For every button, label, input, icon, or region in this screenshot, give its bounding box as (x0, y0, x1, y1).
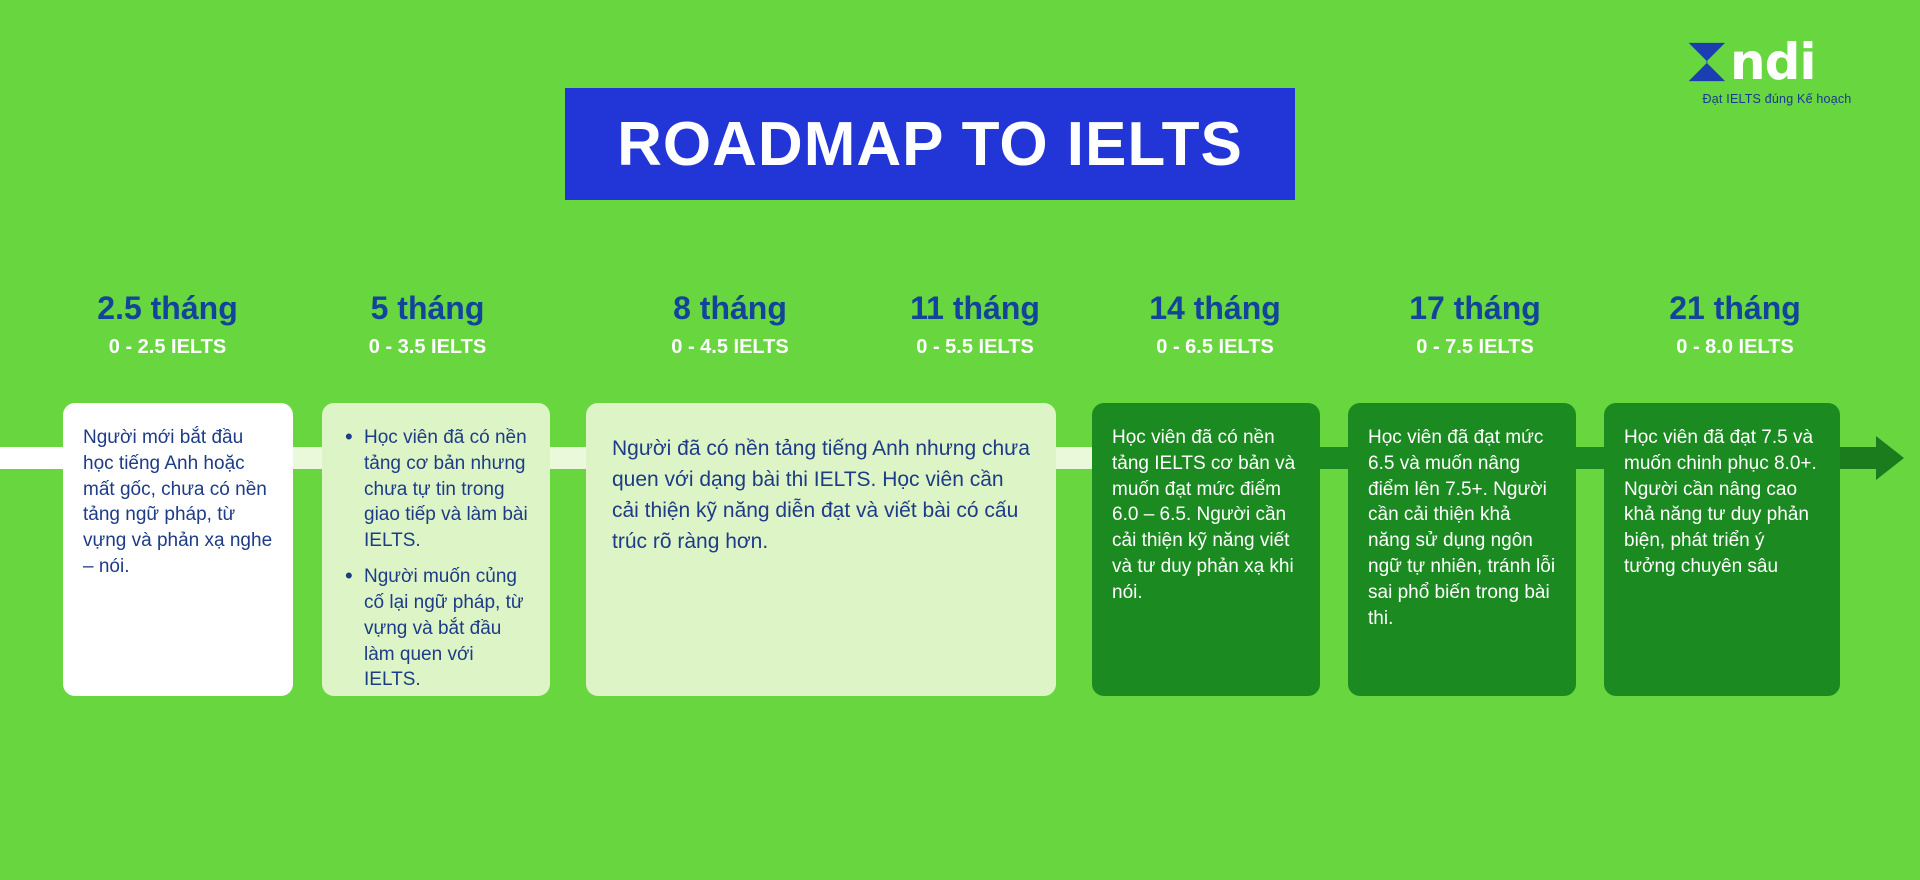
timeline-score-6: 0 - 7.5 IELTS (1360, 332, 1590, 362)
timeline-segment-1-2 (292, 447, 322, 469)
timeline-segment-2-3 (548, 447, 588, 469)
timeline-score-4: 0 - 5.5 IELTS (860, 332, 1090, 362)
logo-tagline: Đạt IELTS đúng Kế hoạch (1662, 92, 1892, 106)
logo-wordmark-row: ndi (1662, 34, 1892, 90)
timeline-months-1: 2.5 tháng (45, 288, 290, 328)
roadmap-card-6: Học viên đã đạt 7.5 và muốn chinh phục 8… (1604, 403, 1840, 696)
timeline-score-1: 0 - 2.5 IELTS (45, 332, 290, 362)
timeline-score-3: 0 - 4.5 IELTS (615, 332, 845, 362)
roadmap-card-2-list: Học viên đã có nền tảng cơ bản nhưng chư… (342, 425, 530, 693)
roadmap-card-2: Học viên đã có nền tảng cơ bản nhưng chư… (322, 403, 550, 696)
roadmap-card-6-text: Học viên đã đạt 7.5 và muốn chinh phục 8… (1624, 425, 1820, 580)
timeline-months-6: 17 tháng (1360, 288, 1590, 328)
logo-word: ndi (1730, 36, 1816, 88)
endi-logo: ndi Đạt IELTS đúng Kế hoạch (1662, 34, 1892, 118)
roadmap-card-1: Người mới bắt đầu học tiếng Anh hoặc mất… (63, 403, 293, 696)
roadmap-card-2-bullet-1: Học viên đã có nền tảng cơ bản nhưng chư… (342, 425, 530, 554)
timeline-segment-3-4 (1050, 447, 1092, 469)
timeline-segment-start (0, 447, 66, 469)
timeline-months-3: 8 tháng (615, 288, 845, 328)
roadmap-card-4: Học viên đã có nền tảng IELTS cơ bản và … (1092, 403, 1320, 696)
timeline-score-2: 0 - 3.5 IELTS (315, 332, 540, 362)
timeline-months-7: 21 tháng (1620, 288, 1850, 328)
roadmap-card-1-text: Người mới bắt đầu học tiếng Anh hoặc mất… (83, 425, 273, 580)
page-title-band: ROADMAP TO IELTS (565, 88, 1295, 200)
roadmap-card-5-text: Học viên đã đạt mức 6.5 và muốn nâng điể… (1368, 425, 1556, 632)
timeline-months-5: 14 tháng (1100, 288, 1330, 328)
timeline-score-5: 0 - 6.5 IELTS (1100, 332, 1330, 362)
timeline-months-4: 11 tháng (860, 288, 1090, 328)
timeline-headers: 2.5 tháng 0 - 2.5 IELTS 5 tháng 0 - 3.5 … (0, 288, 1920, 388)
timeline-header-5: 14 tháng 0 - 6.5 IELTS (1100, 288, 1330, 362)
timeline-months-2: 5 tháng (315, 288, 540, 328)
timeline-header-1: 2.5 tháng 0 - 2.5 IELTS (45, 288, 290, 362)
roadmap-card-2-bullet-2: Người muốn củng cố lại ngữ pháp, từ vựng… (342, 564, 530, 693)
timeline-header-3: 8 tháng 0 - 4.5 IELTS (615, 288, 845, 362)
timeline-score-7: 0 - 8.0 IELTS (1620, 332, 1850, 362)
infographic-canvas: ndi Đạt IELTS đúng Kế hoạch ROADMAP TO I… (0, 0, 1920, 880)
page-title: ROADMAP TO IELTS (617, 109, 1243, 180)
timeline-header-7: 21 tháng 0 - 8.0 IELTS (1620, 288, 1850, 362)
timeline-header-2: 5 tháng 0 - 3.5 IELTS (315, 288, 540, 362)
roadmap-card-3: Người đã có nền tảng tiếng Anh nhưng chư… (586, 403, 1056, 696)
roadmap-card-3-text: Người đã có nền tảng tiếng Anh nhưng chư… (612, 433, 1030, 557)
timeline-arrow-head-icon (1876, 436, 1904, 480)
roadmap-card-4-text: Học viên đã có nền tảng IELTS cơ bản và … (1112, 425, 1300, 606)
timeline-header-6: 17 tháng 0 - 7.5 IELTS (1360, 288, 1590, 362)
timeline-header-4: 11 tháng 0 - 5.5 IELTS (860, 288, 1090, 362)
roadmap-card-5: Học viên đã đạt mức 6.5 và muốn nâng điể… (1348, 403, 1576, 696)
sigma-arrow-icon (1680, 36, 1732, 88)
